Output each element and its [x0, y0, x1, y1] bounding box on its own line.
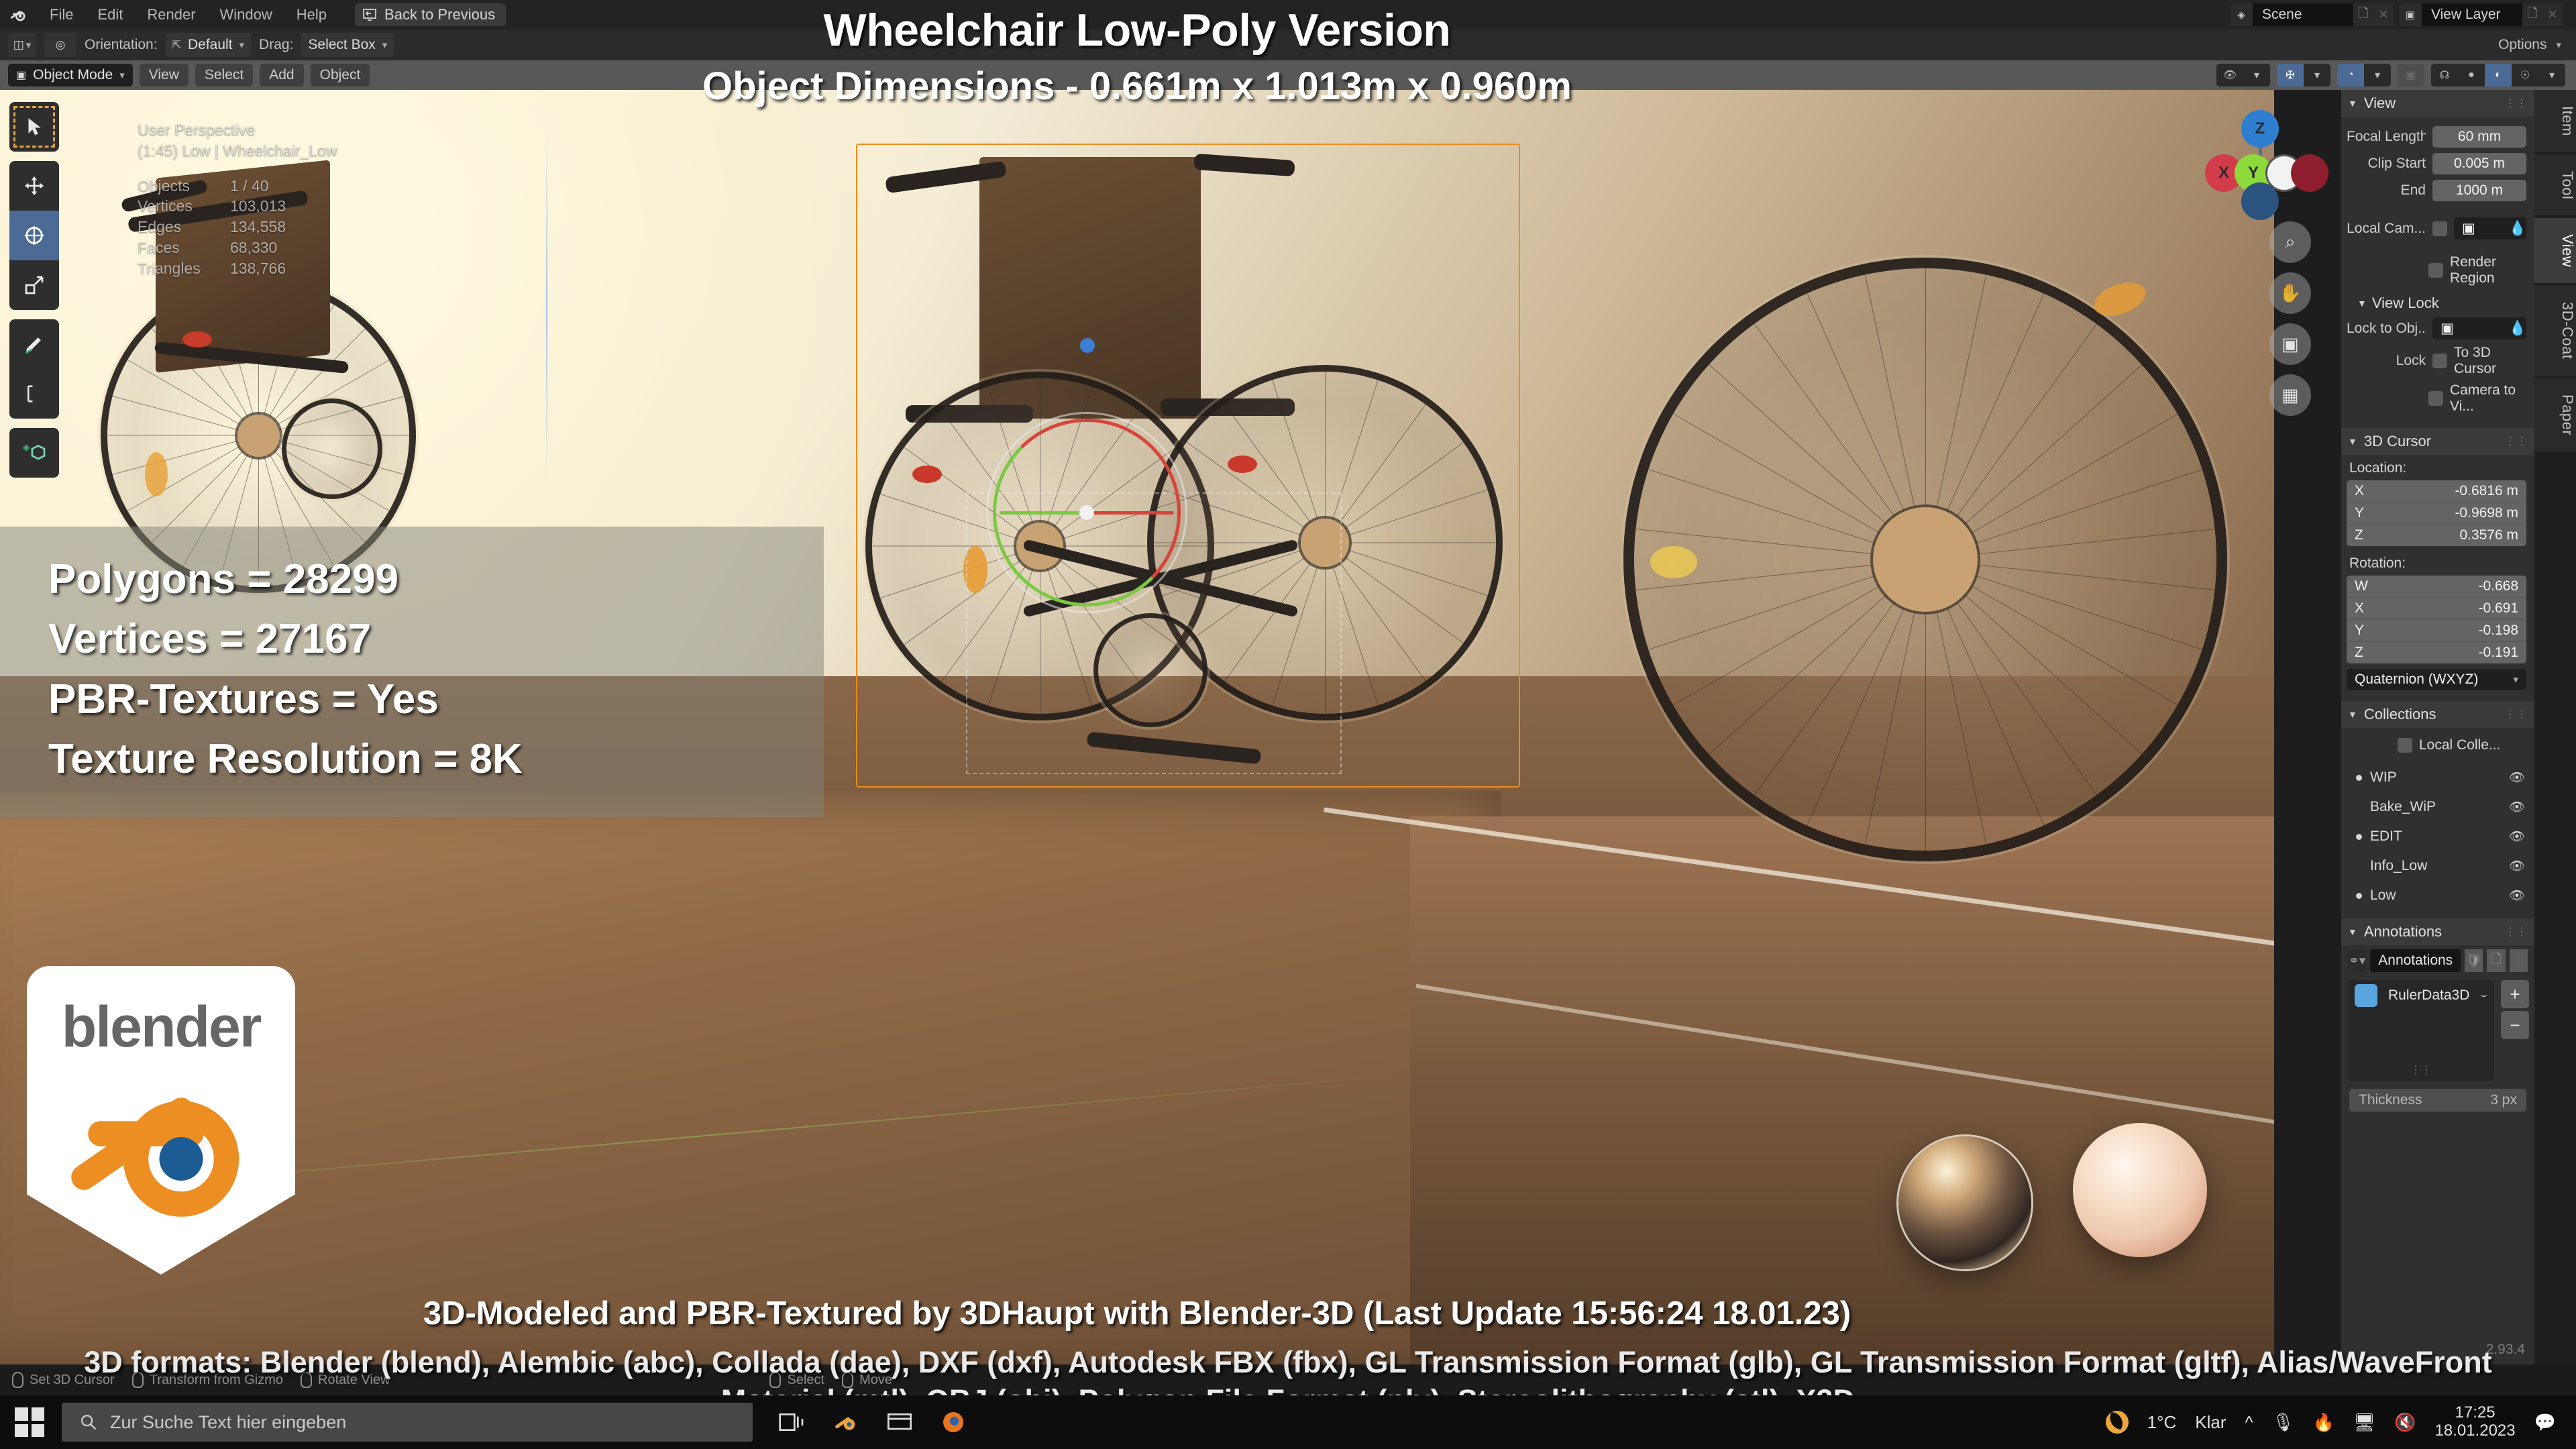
scale-icon [23, 274, 45, 296]
sidebar-item-tweak-select-tool[interactable] [9, 102, 59, 152]
axis-label-z: Z [2355, 527, 2363, 543]
collection-item-info-low[interactable]: Info_Low 👁 [2341, 851, 2534, 881]
explorer-icon[interactable] [884, 1407, 915, 1438]
checkbox-to-3d-cursor[interactable] [2432, 354, 2447, 368]
chevron-down-icon[interactable]: ▾ [2304, 64, 2330, 87]
collection-label: Low [2370, 888, 2396, 904]
search-icon [79, 1413, 98, 1432]
axis-label-x: X [2355, 483, 2364, 499]
stat-row-objects: Objects 1 / 40 [138, 176, 337, 197]
row-render-region[interactable]: Render Region [2341, 252, 2534, 289]
onion-skin-icon[interactable]: ⌣ [2480, 989, 2487, 1002]
label-local-collections: Local Colle... [2419, 737, 2500, 753]
eye-icon[interactable]: 👁 [2509, 858, 2525, 874]
row-cursor-rot-z[interactable]: Z -0.191 [2347, 642, 2526, 663]
wheel-right-large [1623, 258, 2227, 861]
nav-axis-x-negative[interactable] [2291, 154, 2328, 192]
stat-rows: Objects 1 / 40 Vertices 103,013 Edges 13… [138, 176, 337, 279]
clock[interactable]: 17:25 18.01.2023 [2435, 1404, 2516, 1440]
stat-pbr-textures: PBR-Textures = Yes [48, 669, 824, 729]
annotation-datablock-icon[interactable]: ⚭▾ [2348, 949, 2366, 972]
chevron-down-icon[interactable]: ▾ [2364, 64, 2391, 87]
object-dimensions-subtitle: Object Dimensions - 0.661m x 1.013m x 0.… [0, 64, 2274, 109]
chevron-down-icon: ▾ [2513, 674, 2518, 686]
annotation-layer-list[interactable]: RulerData3D ⌣ ⋮⋮ [2348, 980, 2494, 1081]
value-clip-end[interactable]: 1000 m [2432, 180, 2526, 201]
axis-label-y: Y [2248, 164, 2259, 182]
push-handle-center-right [1193, 154, 1295, 176]
stat-key: Triangles [138, 258, 218, 279]
panel-grip-icon: ⋮⋮ [2505, 97, 2528, 110]
search-input[interactable]: Zur Suche Text hier eingeben [62, 1403, 753, 1442]
system-tray[interactable]: 1°C Klar ^ 🎙 🔥 🖥 🔇 17:25 18.01.2023 💬 [2106, 1404, 2576, 1440]
firefox-glyph [940, 1409, 967, 1436]
network-icon[interactable]: 🖥 [2353, 1412, 2375, 1433]
model-stats-overlay: Polygons = 28299 Vertices = 27167 PBR-Te… [0, 527, 824, 817]
clock-date: 18.01.2023 [2435, 1422, 2516, 1440]
sidebar-item-measure-tool[interactable] [9, 369, 59, 419]
value-cursor-rot-w[interactable]: -0.668 [2478, 578, 2518, 594]
camera-view-icon[interactable]: ▣ [2269, 323, 2311, 365]
viewport-statistics-overlay: User Perspective (1:45) Low | Wheelchair… [138, 119, 337, 279]
view-layer-name[interactable]: View Layer [2422, 7, 2522, 23]
stat-row-edges: Edges 134,558 [138, 217, 337, 237]
reflector-orange-left [145, 452, 168, 496]
chevron-down-icon[interactable]: ▾ [2538, 64, 2565, 87]
axis-label-w: W [2355, 578, 2368, 594]
axis-label-x: X [2355, 600, 2364, 616]
stat-polygons: Polygons = 28299 [48, 549, 824, 609]
volume-muted-icon[interactable]: 🔇 [2394, 1412, 2416, 1433]
view-layer-icon: ▣ [2399, 3, 2422, 26]
pan-hand-icon[interactable]: ✋ [2269, 272, 2311, 314]
wheel-front-left [282, 398, 382, 499]
eyedropper-icon[interactable]: 💧 [2509, 221, 2526, 237]
section-title-view: View [2364, 95, 2396, 112]
stat-key: Edges [138, 217, 218, 237]
checkbox-camera-to-view[interactable] [2428, 391, 2443, 406]
viewport-navigation-buttons[interactable]: ⌕ ✋ ▣ ▦ [2269, 221, 2311, 416]
section-title-view-lock: View Lock [2372, 294, 2439, 312]
microphone-icon[interactable]: 🎙 [2272, 1412, 2294, 1433]
chevron-up-icon[interactable]: ^ [2245, 1412, 2253, 1433]
clock-time: 17:25 [2435, 1404, 2516, 1422]
gizmo-handle-z[interactable] [1080, 338, 1095, 353]
sidebar-item-annotate-tool[interactable] [9, 319, 59, 369]
eye-icon[interactable]: 👁 [2509, 799, 2525, 815]
label-to-3d-cursor: To 3D Cursor [2454, 345, 2526, 377]
blender-swirl-icon [60, 1067, 262, 1221]
active-dot [2356, 804, 2362, 810]
object-icon: ▣ [2440, 320, 2454, 337]
sidebar-item-scale-tool[interactable] [9, 260, 59, 310]
zoom-icon[interactable]: ⌕ [2269, 221, 2311, 263]
stat-value: 68,330 [230, 237, 277, 258]
row-cursor-loc-x[interactable]: X -0.6816 m [2347, 480, 2526, 502]
panel-grip-icon: ⋮⋮ [2505, 435, 2528, 448]
weather-label: Klar [2195, 1412, 2226, 1433]
stat-value: 1 / 40 [230, 176, 269, 197]
logo-wordmark: blender [27, 994, 295, 1061]
stat-value: 134,558 [230, 217, 286, 237]
cursor-location-group[interactable]: X -0.6816 m Y -0.9698 m Z 0.3576 m [2341, 478, 2534, 549]
field-local-camera[interactable]: ▣ 💧 [2454, 217, 2526, 239]
label-cursor-rotation: Rotation: [2341, 549, 2534, 573]
collection-item-low[interactable]: Low 👁 [2341, 881, 2534, 910]
section-title-collections: Collections [2364, 706, 2436, 723]
collection-label: EDIT [2370, 828, 2402, 845]
chrome-preview-sphere [1898, 1136, 2031, 1269]
panel-grip-icon: ⋮⋮ [2505, 925, 2528, 938]
axis-label-z: Z [2255, 119, 2265, 138]
blender-application-window: User Perspective (1:45) Low | Wheelchair… [0, 0, 2576, 1449]
sidebar-tab-strip[interactable]: Item Tool View 3D-Coat Paper [2534, 90, 2576, 1364]
checkbox-render-region[interactable] [2428, 263, 2443, 278]
shading-wireframe-icon[interactable]: ☊ [2431, 64, 2458, 87]
eyedropper-icon[interactable]: 💧 [2509, 321, 2526, 337]
close-icon[interactable]: ✕ [2510, 949, 2528, 972]
layer-name[interactable]: RulerData3D [2388, 987, 2469, 1004]
add-cube-icon [22, 441, 46, 465]
shading-rendered-icon[interactable]: ☉ [2512, 64, 2538, 87]
stat-perspective: User Perspective [138, 119, 337, 140]
collection-item-edit[interactable]: EDIT 👁 [2341, 822, 2534, 851]
notification-icon[interactable]: 💬 [2534, 1412, 2556, 1433]
row-clip-start[interactable]: Clip Start 0.005 m [2341, 150, 2534, 177]
active-dot [2356, 834, 2362, 840]
navigation-gizmo[interactable]: Z X Y [2210, 113, 2311, 213]
stat-value: 103,013 [230, 196, 286, 217]
measure-ruler-icon [24, 384, 44, 404]
label-lock-to-object: Lock to Obj... [2347, 321, 2426, 337]
sidebar-item-move-tool[interactable] [9, 161, 59, 211]
blender-taskbar-glyph [833, 1409, 859, 1436]
new-copy-icon[interactable]: 🗋 [2487, 949, 2505, 972]
sidebar-item-add-cube-tool[interactable] [9, 428, 59, 478]
gizmos-group[interactable]: ✠ ▾ [2277, 64, 2330, 87]
label-thickness: Thickness [2359, 1092, 2422, 1108]
row-focal-length[interactable]: Focal Length 60 mm [2341, 123, 2534, 150]
page-title: Wheelchair Low-Poly Version [0, 4, 2274, 56]
section-header-collections[interactable]: ▼ Collections ⋮⋮ [2341, 701, 2534, 728]
section-header-3d-cursor[interactable]: ▼ 3D Cursor ⋮⋮ [2341, 428, 2534, 455]
chevron-down-icon: ▼ [2348, 98, 2357, 109]
explorer-glyph [886, 1411, 913, 1434]
stat-key: Objects [138, 176, 218, 197]
gizmos-icon[interactable]: ✠ [2277, 64, 2304, 87]
axis-label-y: Y [2355, 623, 2364, 639]
tool-group-select[interactable] [9, 102, 59, 152]
section-header-annotations[interactable]: ▼ Annotations ⋮⋮ [2341, 918, 2534, 945]
tweak-select-icon [23, 115, 46, 138]
windows-taskbar[interactable]: Zur Suche Text hier eingeben 1 [0, 1395, 2576, 1449]
annotation-datablock-name[interactable]: Annotations [2370, 949, 2461, 972]
row-cursor-loc-y[interactable]: Y -0.9698 m [2347, 502, 2526, 525]
label-focal-length: Focal Length [2347, 129, 2426, 145]
wheelchair-right[interactable] [1623, 258, 2274, 928]
active-dot [2356, 863, 2362, 869]
topbar-datablocks[interactable]: ◈ Scene 🗋 ✕ ▣ View Layer 🗋 ✕ [2230, 3, 2576, 26]
reflector-center-right [1228, 455, 1257, 473]
windows-start-icon[interactable] [15, 1407, 44, 1437]
taskbar-pinned-apps[interactable] [777, 1407, 969, 1438]
shading-modes-group[interactable]: ☊ ● ◐ ☉ ▾ [2431, 64, 2565, 87]
shading-material-preview-icon[interactable]: ◐ [2485, 64, 2512, 87]
value-cursor-loc-y[interactable]: -0.9698 m [2455, 505, 2518, 521]
close-icon[interactable]: ✕ [2542, 3, 2563, 26]
reflector-left [182, 331, 212, 347]
options-dropdown[interactable]: Options [2498, 37, 2546, 53]
row-lock-to-object[interactable]: Lock to Obj... ▣ 💧 [2341, 315, 2534, 342]
cursor-rotation-fields[interactable]: W -0.668 X -0.691 Y -0.198 Z -0.191 [2347, 576, 2526, 663]
annotation-layer-item[interactable]: RulerData3D ⌣ [2348, 980, 2494, 1011]
collection-label: WIP [2370, 769, 2397, 786]
cursor-rotation-group[interactable]: W -0.668 X -0.691 Y -0.198 Z -0.191 [2341, 573, 2534, 666]
add-layer-button[interactable]: + [2501, 980, 2529, 1008]
section-header-view-lock[interactable]: ▼ View Lock [2341, 289, 2534, 315]
remove-layer-button[interactable]: − [2501, 1011, 2529, 1039]
taskview-glyph [779, 1411, 806, 1434]
panel-grip-icon: ⋮⋮ [2410, 1063, 2432, 1077]
value-focal-length[interactable]: 60 mm [2432, 126, 2526, 148]
author-caption: 3D-Modeled and PBR-Textured by 3DHaupt w… [0, 1295, 2274, 1332]
eye-icon[interactable]: 👁 [2509, 769, 2525, 786]
value-cursor-loc-x[interactable]: -0.6816 m [2455, 483, 2518, 499]
firefox-icon[interactable] [938, 1407, 969, 1438]
gizmo-axis-y[interactable] [1000, 511, 1087, 515]
stat-row-triangles: Triangles 138,766 [138, 258, 337, 279]
section-header-view[interactable]: ▼ View ⋮⋮ [2341, 90, 2534, 117]
label-cursor-location: Location: [2341, 455, 2534, 478]
rotation-mode-value: Quaternion (WXYZ) [2355, 672, 2478, 688]
axis-label-x: X [2218, 164, 2229, 182]
row-local-camera[interactable]: Local Cam... ▣ 💧 [2341, 215, 2534, 242]
stat-key: Vertices [138, 196, 218, 217]
search-placeholder: Zur Suche Text hier eingeben [110, 1412, 346, 1433]
row-cursor-rot-w[interactable]: W -0.668 [2347, 576, 2526, 598]
row-camera-to-view[interactable]: Camera to Vi... [2341, 380, 2534, 417]
shading-solid-icon[interactable]: ● [2458, 64, 2485, 87]
row-lock-3d-cursor[interactable]: Lock To 3D Cursor [2341, 342, 2534, 380]
axis-label-y: Y [2355, 505, 2364, 521]
annotation-layer-buttons[interactable]: + − [2501, 980, 2529, 1085]
stat-vertices: Vertices = 27167 [48, 609, 824, 669]
annotate-pencil-icon [23, 333, 46, 356]
tool-group-add[interactable] [9, 428, 59, 478]
reflector-right-bottom [1650, 546, 1697, 578]
transform-gizmo[interactable] [986, 412, 1187, 613]
viewport-sidebar[interactable]: ▼ View ⋮⋮ Focal Length 60 mm Clip Start … [2341, 90, 2534, 1364]
overlays-icon[interactable]: ◔ [2337, 64, 2364, 87]
value-cursor-rot-x[interactable]: -0.691 [2478, 600, 2518, 616]
sidebar-item-transform-tool[interactable] [9, 211, 59, 260]
collection-item-bake-wip[interactable]: Bake_WiP 👁 [2341, 792, 2534, 822]
section-title-annotations: Annotations [2364, 923, 2442, 941]
active-dot [2356, 775, 2362, 781]
tab-tool[interactable]: Tool [2534, 155, 2576, 215]
chevron-down-icon: ▼ [2348, 436, 2357, 447]
temperature-label: 1°C [2147, 1412, 2177, 1433]
transform-gizmo-icon [23, 224, 46, 247]
chevron-down-icon: ▼ [2357, 298, 2367, 309]
value-clip-start[interactable]: 0.005 m [2432, 153, 2526, 174]
stat-row-vertices: Vertices 103,013 [138, 196, 337, 217]
tool-group-transform[interactable] [9, 161, 59, 310]
value-cursor-loc-z[interactable]: 0.3576 m [2459, 527, 2518, 543]
value-cursor-rot-y[interactable]: -0.198 [2478, 623, 2518, 639]
value-thickness[interactable]: 3 px [2490, 1092, 2517, 1108]
new-scene-icon[interactable]: 🗋 [2353, 3, 2373, 26]
chevron-down-icon: ▼ [2348, 709, 2357, 720]
active-dot [2356, 893, 2362, 899]
tab-paper[interactable]: Paper [2534, 378, 2576, 451]
nav-axis-z-positive[interactable]: Z [2241, 110, 2279, 148]
field-lock-to-object[interactable]: ▣ 💧 [2432, 317, 2526, 339]
annotation-datablock-row[interactable]: ⚭▾ Annotations 🛡 🗋 ✕ [2341, 945, 2534, 976]
row-cursor-rot-x[interactable]: X -0.691 [2347, 598, 2526, 620]
row-clip-end[interactable]: End 1000 m [2341, 177, 2534, 204]
taskview-icon[interactable] [777, 1407, 808, 1438]
stat-value: 138,766 [230, 258, 286, 279]
tool-group-annotate[interactable] [9, 319, 59, 419]
label-camera-to-view: Camera to Vi... [2450, 382, 2526, 415]
stat-collection-object: (1:45) Low | Wheelchair_Low [138, 140, 337, 161]
eye-icon[interactable]: 👁 [2509, 828, 2525, 845]
move-arrows-icon [23, 174, 46, 197]
flame-icon[interactable]: 🔥 [2313, 1412, 2334, 1433]
tab-3d-coat[interactable]: 3D-Coat [2534, 286, 2576, 375]
panel-grip-icon: ⋮⋮ [2505, 708, 2528, 721]
blender-taskbar-icon[interactable] [830, 1407, 861, 1438]
collection-item-wip[interactable]: WIP 👁 [2341, 763, 2534, 792]
wheel-hub-large [1873, 507, 1978, 612]
chevron-down-icon: ▼ [2348, 926, 2357, 937]
viewport-toolbar[interactable] [9, 102, 59, 478]
tab-view[interactable]: View [2534, 218, 2576, 283]
new-layer-icon[interactable]: 🗋 [2522, 3, 2542, 26]
stat-row-faces: Faces 68,330 [138, 237, 337, 258]
label-lock: Lock [2347, 353, 2426, 369]
view-layer-selector[interactable]: ▣ View Layer 🗋 ✕ [2399, 3, 2563, 26]
tool-settings-right[interactable]: Options ▾ [2498, 37, 2576, 53]
stat-texture-resolution: Texture Resolution = 8K [48, 729, 824, 789]
label-local-camera: Local Cam... [2347, 221, 2426, 237]
collection-label: Bake_WiP [2370, 799, 2436, 815]
gizmo-axis-x[interactable] [1087, 511, 1174, 515]
xray-group[interactable]: ▣ [2398, 64, 2424, 87]
row-cursor-loc-z[interactable]: Z 0.3576 m [2347, 525, 2526, 546]
annotation-layers-area[interactable]: RulerData3D ⌣ ⋮⋮ + − [2341, 976, 2534, 1085]
toggle-orthographic-icon[interactable]: ▦ [2269, 374, 2311, 416]
checkbox-local-camera[interactable] [2432, 221, 2447, 236]
fake-user-icon[interactable]: 🛡 [2465, 949, 2483, 972]
tab-item[interactable]: Item [2534, 90, 2576, 152]
reflector-center-left [912, 466, 942, 483]
overlays-group[interactable]: ◔ ▾ [2337, 64, 2391, 87]
rotation-mode-dropdown[interactable]: Quaternion (WXYZ) ▾ [2347, 669, 2526, 690]
object-icon: ▣ [2462, 220, 2475, 237]
collection-label: Info_Low [2370, 858, 2427, 874]
nav-axis-z-negative[interactable] [2241, 182, 2279, 220]
layer-color-swatch[interactable] [2355, 984, 2377, 1007]
moon-icon [2106, 1411, 2129, 1434]
wheel-hub [237, 415, 280, 457]
checkbox-local-collections[interactable] [2398, 738, 2412, 753]
label-clip-end: End [2347, 182, 2426, 199]
gizmo-handle-center[interactable] [1079, 505, 1094, 520]
row-thickness[interactable]: Thickness 3 px [2349, 1089, 2526, 1112]
wheelchair-center-selected[interactable] [865, 117, 1576, 922]
value-cursor-rot-z[interactable]: -0.191 [2478, 645, 2518, 661]
close-icon[interactable]: ✕ [2373, 3, 2394, 26]
row-rotation-mode[interactable]: Quaternion (WXYZ) ▾ [2341, 666, 2534, 693]
cursor-location-fields[interactable]: X -0.6816 m Y -0.9698 m Z 0.3576 m [2347, 480, 2526, 546]
eye-icon[interactable]: 👁 [2509, 888, 2525, 904]
section-title-3d-cursor: 3D Cursor [2364, 433, 2431, 450]
stat-key: Faces [138, 237, 218, 258]
matte-preview-sphere [2073, 1123, 2207, 1257]
xray-icon[interactable]: ▣ [2398, 64, 2424, 87]
label-clip-start: Clip Start [2347, 156, 2426, 172]
chevron-down-icon[interactable]: ▾ [2556, 39, 2561, 51]
row-cursor-rot-y[interactable]: Y -0.198 [2347, 620, 2526, 642]
axis-label-z: Z [2355, 645, 2363, 661]
row-local-collections[interactable]: Local Colle... [2341, 728, 2534, 756]
blender-logo-watermark: blender [27, 966, 295, 1275]
label-render-region: Render Region [2450, 254, 2526, 286]
